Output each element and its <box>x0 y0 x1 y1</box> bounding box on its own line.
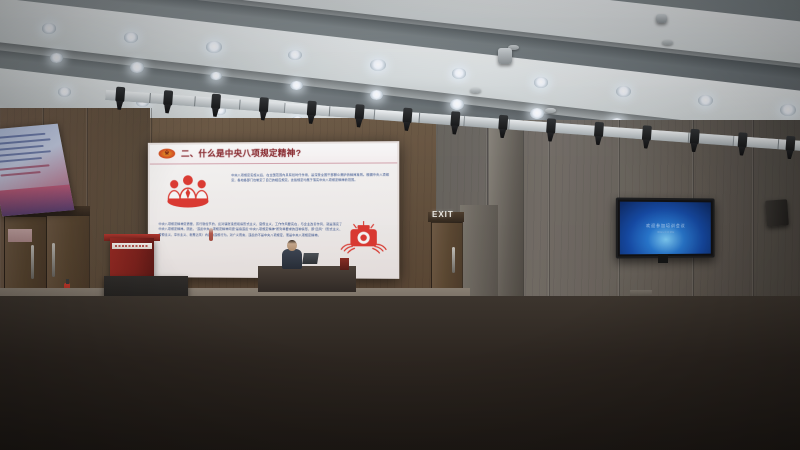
side-monitor-textline <box>0 145 44 151</box>
audience-seating-area <box>0 296 800 450</box>
spotlight-yoke <box>451 125 459 134</box>
spotlight-head <box>450 111 460 127</box>
laptop-icon <box>302 253 319 264</box>
spotlight-yoke <box>499 129 507 138</box>
tv-headline: 欢迎参加培训会议 <box>620 223 711 229</box>
tv-wall-mount <box>658 254 668 263</box>
recessed-downlight-icon <box>698 95 713 106</box>
spotlight-head <box>498 115 508 131</box>
spotlight-head <box>594 122 604 138</box>
stage-spotlight-icon <box>402 108 413 135</box>
desk-object <box>340 258 349 270</box>
stage-spotlight-icon <box>545 118 556 145</box>
stage-spotlight-icon <box>210 94 221 121</box>
stage-spotlight-icon <box>689 129 700 156</box>
stage-spotlight-icon <box>258 97 269 124</box>
spotlight-head <box>163 90 173 106</box>
spotlight-head <box>738 132 748 148</box>
door-handle[interactable] <box>452 247 455 273</box>
spotlight-yoke <box>738 146 746 155</box>
stage-spotlight-icon <box>497 115 508 142</box>
spotlight-yoke <box>403 122 411 131</box>
stage-spotlight-icon <box>450 111 461 138</box>
spotlight-head <box>355 104 365 120</box>
stage-spotlight-icon <box>737 132 748 159</box>
ceiling-projector-icon <box>656 14 667 23</box>
recessed-downlight-icon <box>452 68 466 79</box>
wall-speaker-icon <box>765 199 789 226</box>
spotlight-head <box>785 136 795 152</box>
recessed-downlight-icon <box>58 87 71 97</box>
truss-segment <box>105 90 151 103</box>
recessed-downlight-icon <box>210 72 222 81</box>
truss-segment <box>554 123 600 136</box>
recessed-downlight-icon <box>206 41 222 53</box>
truss-segment <box>150 93 196 106</box>
truss-segment <box>599 126 645 139</box>
lecture-hall-photo: EXIT EXIT ※ 二、什么是中央八项规定精神? <box>0 0 800 450</box>
recessed-downlight-icon <box>130 62 144 72</box>
stage-spotlight-icon <box>162 90 173 117</box>
lectern-banner <box>112 243 152 249</box>
slide-paragraph-2: 中央八项规定精神定质量，厉行勤俭节约，反对铺张浪费和搞形式主义、官僚主义，工作作… <box>159 222 343 239</box>
side-monitor-textline <box>0 150 51 156</box>
camera-in-hands-icon <box>338 220 389 261</box>
slide-title: 二、什么是中央八项规定精神? <box>181 147 301 160</box>
tv-subline: WELCOME <box>620 231 711 234</box>
slide-paragraph-1: 中央八项规定实施以后，在全国范围内具有划时代作用，是深受全国干部群众拥护的精神准… <box>231 173 389 184</box>
spotlight-head <box>642 125 652 141</box>
projection-screen: ※ 二、什么是中央八项规定精神? <box>148 141 399 279</box>
stage-spotlight-icon <box>114 87 125 114</box>
recessed-downlight-icon <box>370 59 386 71</box>
side-monitor-textline <box>0 133 45 139</box>
side-monitor-textline <box>0 164 50 170</box>
water-bottle <box>209 228 213 241</box>
spotlight-yoke <box>690 143 698 152</box>
spotlight-yoke <box>355 118 363 127</box>
exit-sign-center: EXIT <box>432 210 454 219</box>
spotlight-yoke <box>211 108 219 117</box>
wall-mounted-tv: 欢迎参加培训会议 WELCOME <box>616 198 715 259</box>
spotlight-yoke <box>164 104 172 113</box>
spotlight-head <box>115 87 125 103</box>
spotlight-yoke <box>116 101 124 110</box>
spotlight-yoke <box>307 115 315 124</box>
spotlight-head <box>690 129 700 145</box>
side-monitor-textline <box>0 138 51 144</box>
recessed-downlight-icon <box>290 81 303 90</box>
spotlight-head <box>259 97 269 113</box>
presenter-head <box>287 240 297 251</box>
tv-screen: 欢迎参加培训会议 WELCOME <box>620 202 711 255</box>
stage-spotlight-icon <box>593 122 604 149</box>
spotlight-head <box>546 118 556 134</box>
spotlight-yoke <box>594 136 602 145</box>
side-monitor-textline <box>0 157 42 162</box>
smoke-detector-icon <box>662 40 673 45</box>
truss-segment <box>330 106 376 119</box>
spotlight-head <box>307 101 317 117</box>
presentation-slide: ※ 二、什么是中央八项规定精神? <box>150 143 397 277</box>
spotlight-yoke <box>642 139 650 148</box>
three-people-icon <box>165 172 210 208</box>
seated-presenter <box>282 249 302 269</box>
stage-spotlight-icon <box>641 125 652 152</box>
stage-spotlight-icon <box>306 101 317 128</box>
recessed-downlight-icon <box>50 53 63 62</box>
door-notice-placard <box>8 229 32 242</box>
recessed-downlight-icon <box>534 77 548 88</box>
spotlight-yoke <box>546 132 554 141</box>
spotlight-yoke <box>259 111 267 120</box>
spotlight-head <box>211 94 221 110</box>
spotlight-yoke <box>786 150 794 159</box>
smoke-detector-icon <box>470 88 481 93</box>
side-monitor-textline <box>0 171 40 176</box>
stage-spotlight-icon <box>785 136 796 163</box>
ceiling-projector-icon <box>498 48 512 64</box>
spotlight-head <box>402 108 412 124</box>
party-emblem-icon: ※ <box>159 149 176 159</box>
truss-segment <box>375 110 421 123</box>
stage-spotlight-icon <box>354 104 365 131</box>
door-handle[interactable] <box>52 243 55 277</box>
door-handle[interactable] <box>31 245 34 279</box>
recessed-downlight-icon <box>780 104 796 116</box>
